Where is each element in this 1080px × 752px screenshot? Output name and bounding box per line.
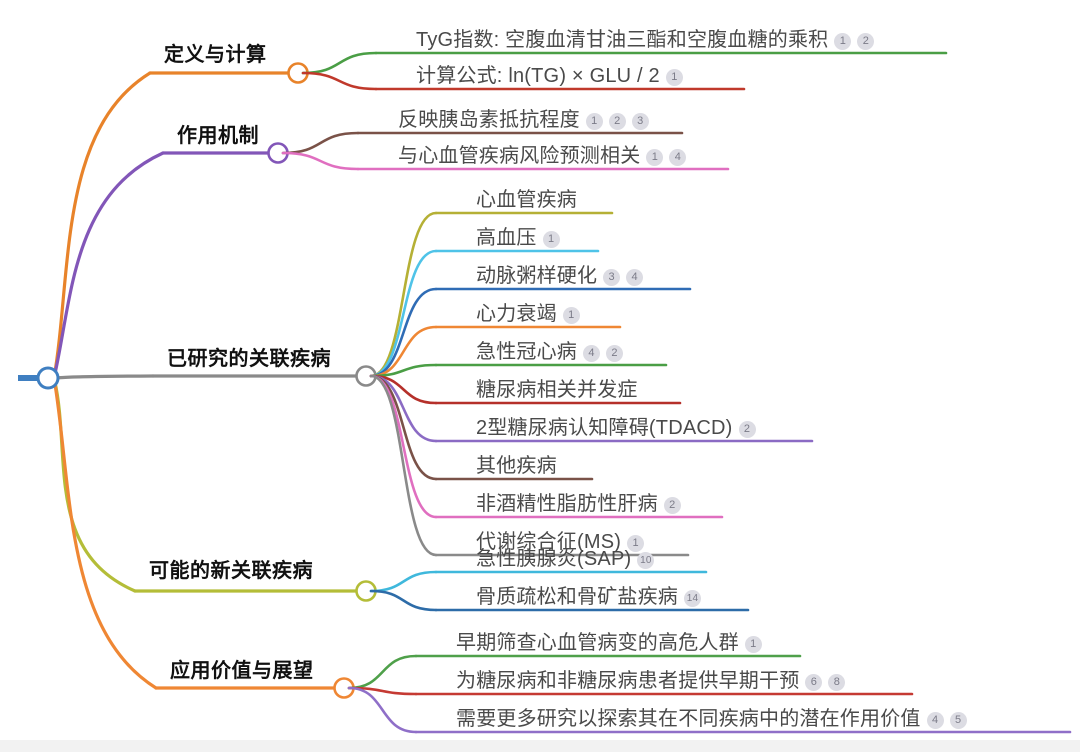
citation-badge[interactable]: 3 [603, 269, 620, 286]
citation-badge[interactable]: 1 [543, 231, 560, 248]
citation-badge[interactable]: 4 [669, 149, 686, 166]
leaf-studied-diseases-2[interactable]: 动脉粥样硬化34 [476, 266, 643, 286]
leaf-curve-application-value-0 [349, 656, 416, 688]
citation-badge[interactable]: 4 [583, 345, 600, 362]
topic-label-definition[interactable]: 定义与计算 [164, 45, 267, 65]
leaf-curve-definition-1 [303, 73, 376, 89]
leaf-text: 糖尿病相关并发症 [476, 379, 638, 401]
leaf-definition-0[interactable]: TyG指数: 空腹血清甘油三酯和空腹血糖的乘积12 [416, 30, 874, 50]
citation-badge[interactable]: 2 [664, 497, 681, 514]
trunk-mechanism [54, 153, 163, 378]
leaf-text: 动脉粥样硬化 [476, 265, 597, 287]
citation-badge[interactable]: 4 [626, 269, 643, 286]
citation-badge[interactable]: 1 [666, 69, 683, 86]
leaf-mechanism-1[interactable]: 与心血管疾病风险预测相关14 [398, 146, 686, 166]
citation-badge[interactable]: 1 [563, 307, 580, 324]
citation-badge[interactable]: 2 [739, 421, 756, 438]
leaf-curve-studied-diseases-2 [371, 289, 436, 376]
leaf-text: 反映胰岛素抵抗程度 [398, 109, 580, 131]
leaf-studied-diseases-6[interactable]: 2型糖尿病认知障碍(TDACD)2 [476, 418, 756, 438]
leaf-curve-mechanism-1 [283, 153, 358, 169]
citation-badge[interactable]: 3 [632, 113, 649, 130]
leaf-studied-diseases-1[interactable]: 高血压1 [476, 228, 560, 248]
citation-badge[interactable]: 8 [828, 674, 845, 691]
leaf-text: TyG指数: 空腹血清甘油三酯和空腹血糖的乘积 [416, 29, 828, 51]
leaf-text: 骨质疏松和骨矿盐疾病 [476, 586, 678, 608]
leaf-studied-diseases-4[interactable]: 急性冠心病42 [476, 342, 623, 362]
bottom-band [0, 740, 1080, 752]
leaf-text: 心力衰竭 [476, 303, 557, 325]
mindmap-canvas: 定义与计算TyG指数: 空腹血清甘油三酯和空腹血糖的乘积12计算公式: ln(T… [0, 0, 1080, 752]
leaf-text: 急性冠心病 [476, 341, 577, 363]
citation-badge[interactable]: 1 [745, 636, 762, 653]
leaf-mechanism-0[interactable]: 反映胰岛素抵抗程度123 [398, 110, 649, 130]
leaf-text: 急性胰腺炎(SAP) [476, 548, 631, 570]
leaf-text: 心血管疾病 [476, 189, 577, 211]
citation-badge[interactable]: 14 [684, 590, 701, 607]
leaf-text: 与心血管疾病风险预测相关 [398, 145, 640, 167]
leaf-text: 其他疾病 [476, 455, 557, 477]
citation-badge[interactable]: 6 [805, 674, 822, 691]
leaf-text: 非酒精性脂肪性肝病 [476, 493, 658, 515]
leaf-text: 需要更多研究以探索其在不同疾病中的潜在作用价值 [456, 708, 921, 730]
citation-badge[interactable]: 1 [834, 33, 851, 50]
leaf-possible-new-diseases-0[interactable]: 急性胰腺炎(SAP)10 [476, 549, 654, 569]
citation-badge[interactable]: 1 [586, 113, 603, 130]
leaf-text: 高血压 [476, 227, 537, 249]
leaf-studied-diseases-0[interactable]: 心血管疾病 [476, 190, 577, 210]
trunk-studied-diseases [54, 376, 153, 378]
citation-badge[interactable]: 10 [637, 552, 654, 569]
citation-badge[interactable]: 1 [646, 149, 663, 166]
leaf-studied-diseases-7[interactable]: 其他疾病 [476, 456, 557, 476]
trunk-application-value [54, 378, 156, 688]
citation-badge[interactable]: 5 [950, 712, 967, 729]
leaf-curve-definition-0 [303, 53, 376, 73]
leaf-application-value-2[interactable]: 需要更多研究以探索其在不同疾病中的潜在作用价值45 [456, 709, 967, 729]
leaf-studied-diseases-3[interactable]: 心力衰竭1 [476, 304, 580, 324]
topic-label-studied-diseases[interactable]: 已研究的关联疾病 [167, 349, 331, 369]
leaf-studied-diseases-5[interactable]: 糖尿病相关并发症 [476, 380, 638, 400]
leaf-text: 早期筛查心血管病变的高危人群 [456, 632, 739, 654]
citation-badge[interactable]: 2 [857, 33, 874, 50]
citation-badge[interactable]: 2 [609, 113, 626, 130]
leaf-curve-possible-new-diseases-0 [371, 572, 436, 591]
trunk-definition [54, 73, 150, 378]
leaf-curve-studied-diseases-8 [371, 376, 436, 517]
topic-label-application-value[interactable]: 应用价值与展望 [170, 661, 314, 681]
leaf-text: 为糖尿病和非糖尿病患者提供早期干预 [456, 670, 799, 692]
leaf-curve-mechanism-0 [283, 133, 358, 153]
topic-label-mechanism[interactable]: 作用机制 [177, 126, 259, 146]
leaf-application-value-1[interactable]: 为糖尿病和非糖尿病患者提供早期干预68 [456, 671, 845, 691]
topic-label-possible-new-diseases[interactable]: 可能的新关联疾病 [149, 561, 313, 581]
leaf-studied-diseases-8[interactable]: 非酒精性脂肪性肝病2 [476, 494, 681, 514]
leaf-curve-studied-diseases-1 [371, 251, 436, 376]
root-node[interactable] [38, 368, 58, 388]
leaf-text: 计算公式: ln(TG) × GLU / 2 [416, 65, 660, 87]
leaf-curve-possible-new-diseases-1 [371, 591, 436, 610]
leaf-possible-new-diseases-1[interactable]: 骨质疏松和骨矿盐疾病14 [476, 587, 701, 607]
leaf-definition-1[interactable]: 计算公式: ln(TG) × GLU / 21 [416, 66, 683, 86]
leaf-application-value-0[interactable]: 早期筛查心血管病变的高危人群1 [456, 633, 762, 653]
citation-badge[interactable]: 4 [927, 712, 944, 729]
leaf-text: 2型糖尿病认知障碍(TDACD) [476, 417, 733, 439]
citation-badge[interactable]: 2 [606, 345, 623, 362]
